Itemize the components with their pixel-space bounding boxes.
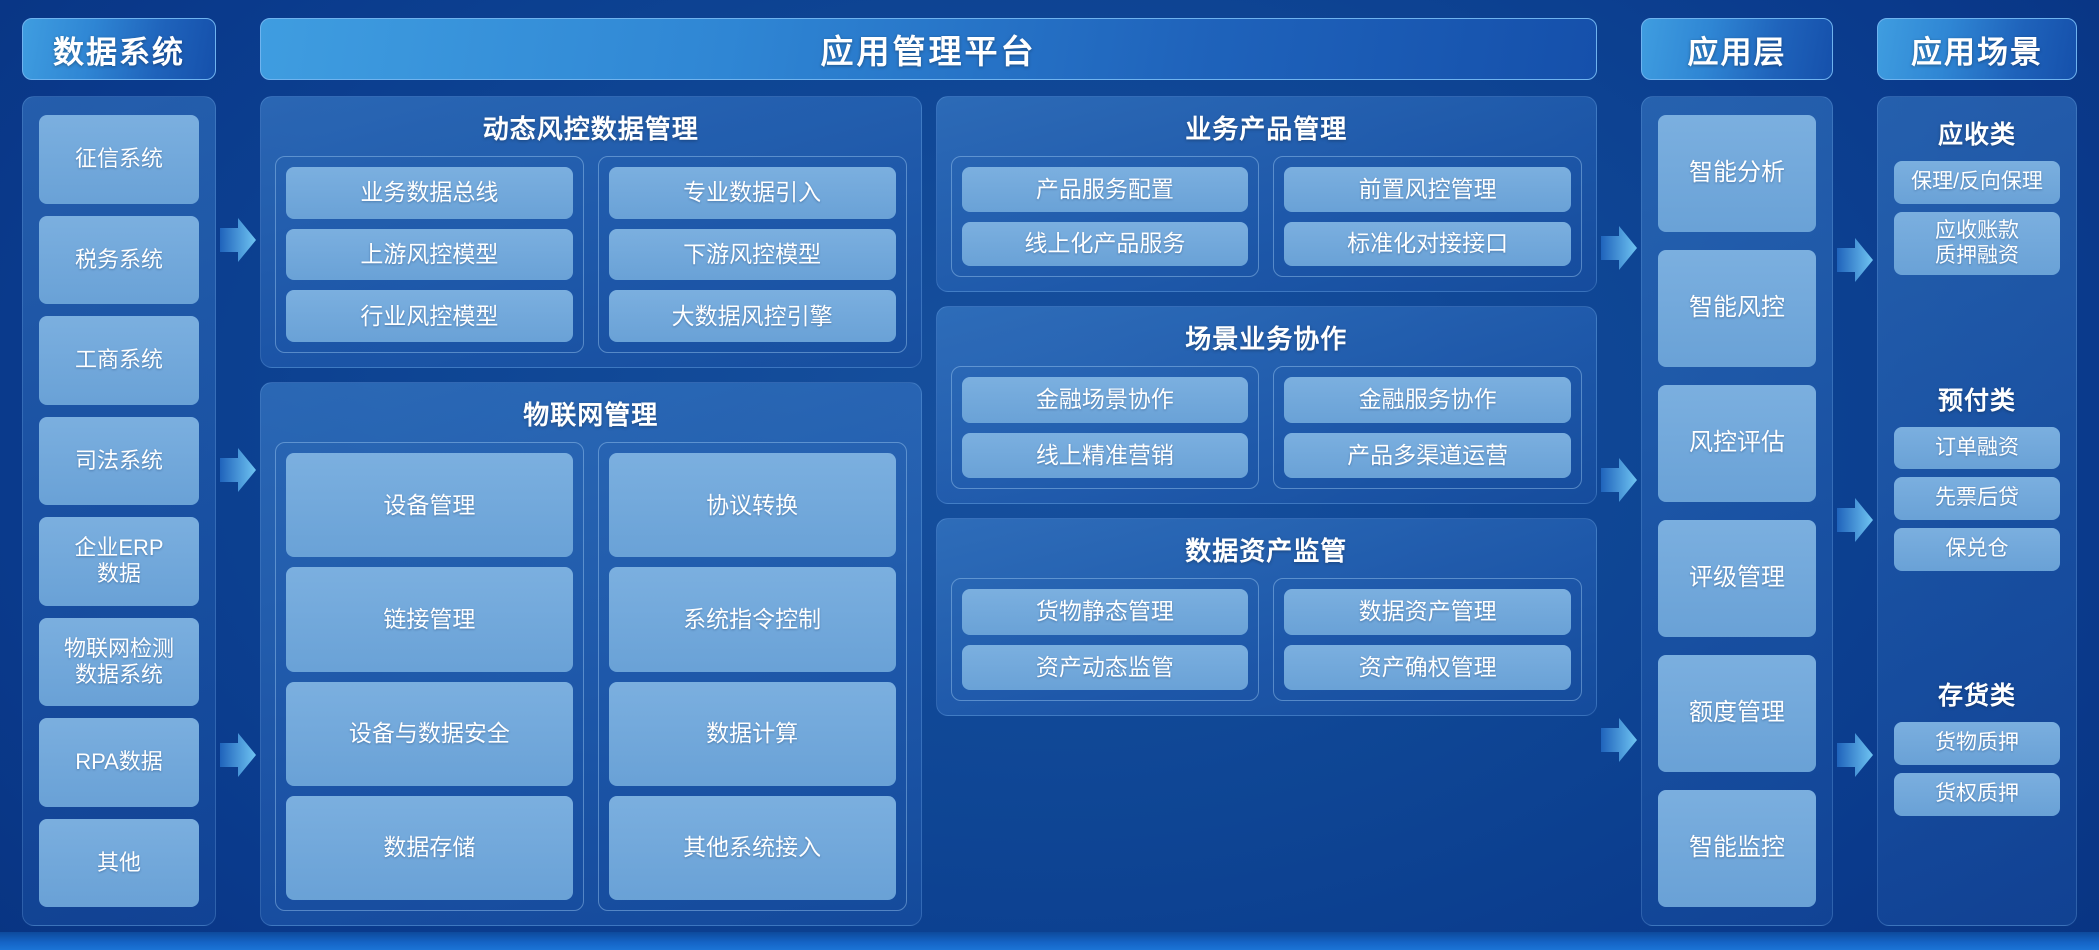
list-item[interactable]: 专业数据引入: [609, 167, 896, 219]
arrow-group-application-layer-to-scenarios: [1833, 18, 1877, 926]
column-header-application-scenarios: 应用场景: [1877, 18, 2077, 80]
scenario-group-inventory: 存货类 货物质押 货权质押: [1894, 672, 2060, 816]
list-item[interactable]: 前置风控管理: [1284, 167, 1571, 212]
list-item[interactable]: 货物静态管理: [962, 589, 1249, 635]
group-title: 物联网管理: [275, 395, 907, 432]
subgroup-left: 设备管理 链接管理 设备与数据安全 数据存储: [275, 442, 584, 911]
list-item[interactable]: 线上化产品服务: [962, 222, 1249, 267]
list-item[interactable]: 额度管理: [1658, 655, 1816, 772]
subgroup-left: 货物静态管理 资产动态监管: [951, 578, 1260, 701]
arrow-right-icon: [1601, 458, 1637, 502]
list-item[interactable]: 大数据风控引擎: [609, 290, 896, 342]
group-dynamic-risk-data: 动态风控数据管理 业务数据总线 上游风控模型 行业风控模型 专业数据引入 下游风…: [260, 96, 922, 368]
spacer: [1894, 577, 2060, 666]
platform-body: 动态风控数据管理 业务数据总线 上游风控模型 行业风控模型 专业数据引入 下游风…: [260, 96, 1597, 926]
platform-column-left: 动态风控数据管理 业务数据总线 上游风控模型 行业风控模型 专业数据引入 下游风…: [260, 96, 922, 926]
subgroup-right: 协议转换 系统指令控制 数据计算 其他系统接入: [598, 442, 907, 911]
group-scene-business-collaboration: 场景业务协作 金融场景协作 线上精准营销 金融服务协作 产品多渠道运营: [936, 306, 1598, 504]
list-item[interactable]: 货物质押: [1894, 722, 2060, 765]
arrow-right-icon: [1601, 718, 1637, 762]
column-header-data-system: 数据系统: [22, 18, 216, 80]
platform-column-right: 业务产品管理 产品服务配置 线上化产品服务 前置风控管理 标准化对接接口: [936, 96, 1598, 926]
data-system-list: 征信系统 税务系统 工商系统 司法系统 企业ERP 数据 物联网检测 数据系统 …: [22, 96, 216, 926]
list-item[interactable]: 数据存储: [286, 796, 573, 900]
list-item[interactable]: 工商系统: [39, 316, 199, 405]
group-title: 数据资产监管: [951, 531, 1583, 568]
subgroup-right: 数据资产管理 资产确权管理: [1273, 578, 1582, 701]
list-item[interactable]: 设备与数据安全: [286, 682, 573, 786]
arrow-right-icon: [220, 448, 256, 492]
column-application-scenarios: 应用场景 应收类 保理/反向保理 应收账款 质押融资 预付类 订单融资 先票后贷…: [1877, 18, 2077, 926]
arrow-right-icon: [1837, 238, 1873, 282]
subgroup-right: 专业数据引入 下游风控模型 大数据风控引擎: [598, 156, 907, 353]
group-title: 业务产品管理: [951, 109, 1583, 146]
list-item[interactable]: 订单融资: [1894, 427, 2060, 470]
list-item[interactable]: 税务系统: [39, 216, 199, 305]
group-business-product-management: 业务产品管理 产品服务配置 线上化产品服务 前置风控管理 标准化对接接口: [936, 96, 1598, 292]
diagram-board: 数据系统 征信系统 税务系统 工商系统 司法系统 企业ERP 数据 物联网检测 …: [22, 18, 2077, 926]
scenario-group-title: 存货类: [1894, 676, 2060, 712]
group-iot-management: 物联网管理 设备管理 链接管理 设备与数据安全 数据存储 协议转换 系统指令控制: [260, 382, 922, 926]
list-item[interactable]: 链接管理: [286, 567, 573, 671]
arrow-right-icon: [220, 733, 256, 777]
spacer: [1894, 822, 2060, 911]
scenario-group-prepaid: 预付类 订单融资 先票后贷 保兑仓: [1894, 377, 2060, 571]
group-data-asset-supervision: 数据资产监管 货物静态管理 资产动态监管 数据资产管理 资产确权管理: [936, 518, 1598, 716]
list-item[interactable]: 系统指令控制: [609, 567, 896, 671]
scenario-group-receivable: 应收类 保理/反向保理 应收账款 质押融资: [1894, 111, 2060, 275]
arrow-right-icon: [1601, 226, 1637, 270]
arrow-group-platform-to-application-layer: [1597, 18, 1641, 926]
list-item[interactable]: 保理/反向保理: [1894, 161, 2060, 204]
list-item[interactable]: 评级管理: [1658, 520, 1816, 637]
list-item[interactable]: 协议转换: [609, 453, 896, 557]
group-title: 场景业务协作: [951, 319, 1583, 356]
list-item[interactable]: 企业ERP 数据: [39, 517, 199, 606]
column-data-system: 数据系统 征信系统 税务系统 工商系统 司法系统 企业ERP 数据 物联网检测 …: [22, 18, 216, 926]
list-item[interactable]: 数据资产管理: [1284, 589, 1571, 635]
arrow-right-icon: [1837, 498, 1873, 542]
group-title: 动态风控数据管理: [275, 109, 907, 146]
column-header-application-layer: 应用层: [1641, 18, 1833, 80]
list-item[interactable]: 资产确权管理: [1284, 645, 1571, 691]
subgroup-left: 金融场景协作 线上精准营销: [951, 366, 1260, 489]
list-item[interactable]: 货权质押: [1894, 773, 2060, 816]
column-platform: 应用管理平台 动态风控数据管理 业务数据总线 上游风控模型 行业风控模型: [260, 18, 1597, 926]
subgroup-right: 金融服务协作 产品多渠道运营: [1273, 366, 1582, 489]
list-item[interactable]: 金融服务协作: [1284, 377, 1571, 423]
column-application-layer: 应用层 智能分析 智能风控 风控评估 评级管理 额度管理 智能监控: [1641, 18, 1833, 926]
architecture-diagram: 数据系统 征信系统 税务系统 工商系统 司法系统 企业ERP 数据 物联网检测 …: [0, 0, 2099, 950]
list-item[interactable]: 标准化对接接口: [1284, 222, 1571, 267]
list-item[interactable]: 产品多渠道运营: [1284, 433, 1571, 479]
arrow-right-icon: [220, 218, 256, 262]
list-item[interactable]: 上游风控模型: [286, 229, 573, 281]
subgroup-left: 业务数据总线 上游风控模型 行业风控模型: [275, 156, 584, 353]
column-header-platform: 应用管理平台: [260, 18, 1597, 80]
list-item[interactable]: 数据计算: [609, 682, 896, 786]
list-item[interactable]: 先票后贷: [1894, 477, 2060, 520]
list-item[interactable]: 应收账款 质押融资: [1894, 212, 2060, 276]
arrow-group-data-to-platform: [216, 18, 260, 926]
subgroup-right: 前置风控管理 标准化对接接口: [1273, 156, 1582, 277]
spacer: [1894, 281, 2060, 370]
list-item[interactable]: 司法系统: [39, 417, 199, 506]
list-item[interactable]: 资产动态监管: [962, 645, 1249, 691]
list-item[interactable]: RPA数据: [39, 718, 199, 807]
subgroup-left: 产品服务配置 线上化产品服务: [951, 156, 1260, 277]
list-item[interactable]: 智能风控: [1658, 250, 1816, 367]
list-item[interactable]: 其他系统接入: [609, 796, 896, 900]
arrow-right-icon: [1837, 733, 1873, 777]
scenario-group-title: 应收类: [1894, 115, 2060, 151]
list-item[interactable]: 其他: [39, 819, 199, 908]
list-item[interactable]: 物联网检测 数据系统: [39, 618, 199, 707]
list-item[interactable]: 产品服务配置: [962, 167, 1249, 212]
list-item[interactable]: 保兑仓: [1894, 528, 2060, 571]
list-item[interactable]: 风控评估: [1658, 385, 1816, 502]
application-scenarios-list: 应收类 保理/反向保理 应收账款 质押融资 预付类 订单融资 先票后贷 保兑仓 …: [1877, 96, 2077, 926]
list-item[interactable]: 线上精准营销: [962, 433, 1249, 479]
list-item[interactable]: 设备管理: [286, 453, 573, 557]
list-item[interactable]: 征信系统: [39, 115, 199, 204]
list-item[interactable]: 行业风控模型: [286, 290, 573, 342]
list-item[interactable]: 智能监控: [1658, 790, 1816, 907]
list-item[interactable]: 金融场景协作: [962, 377, 1249, 423]
list-item[interactable]: 下游风控模型: [609, 229, 896, 281]
list-item[interactable]: 智能分析: [1658, 115, 1816, 232]
scenario-group-title: 预付类: [1894, 381, 2060, 417]
list-item[interactable]: 业务数据总线: [286, 167, 573, 219]
application-layer-list: 智能分析 智能风控 风控评估 评级管理 额度管理 智能监控: [1641, 96, 1833, 926]
